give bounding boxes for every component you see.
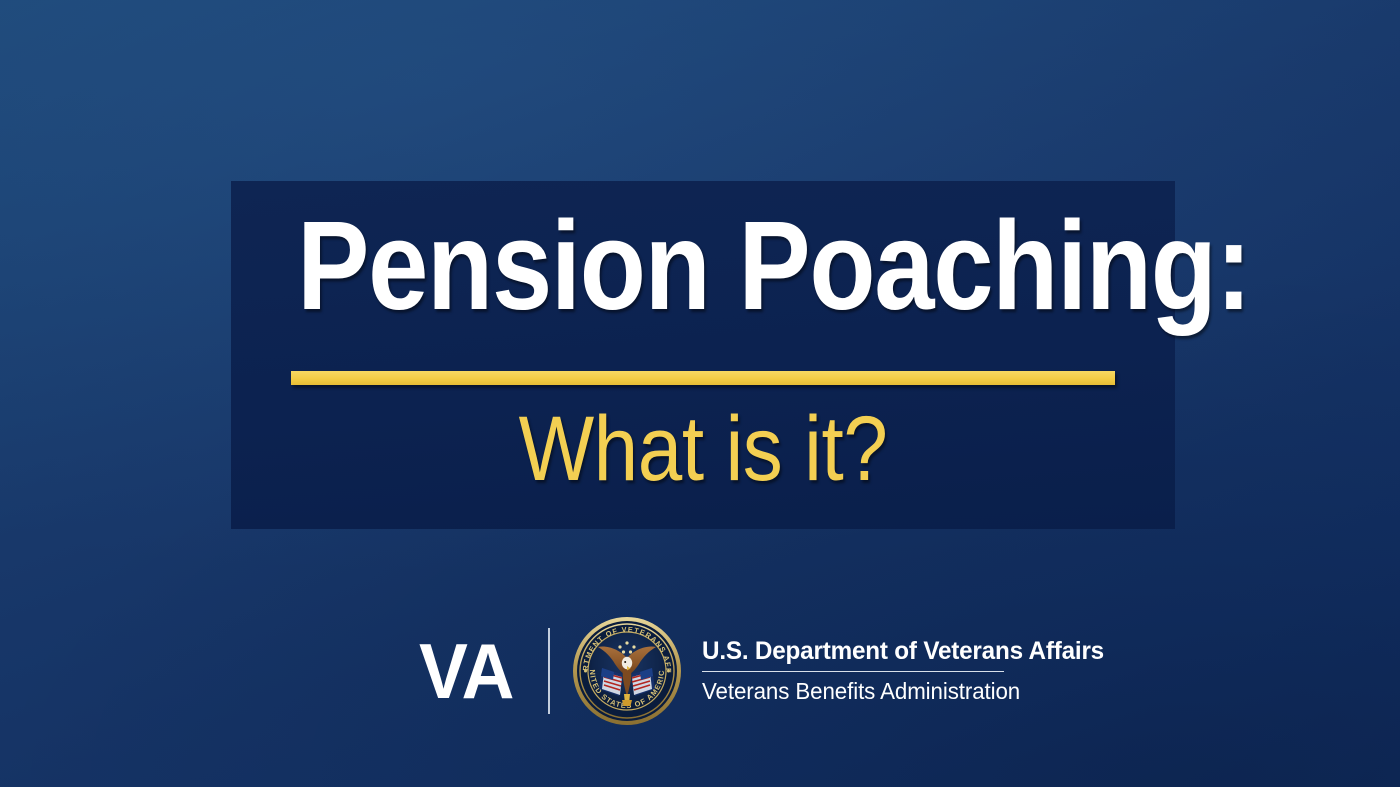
brand-divider bbox=[548, 628, 550, 714]
brand-underline bbox=[702, 671, 1004, 672]
page-subtitle: What is it? bbox=[292, 403, 1113, 495]
va-seal-icon: DEPARTMENT OF VETERANS AFFAIRS UNITED ST… bbox=[572, 616, 682, 726]
title-panel: Pension Poaching: What is it? bbox=[231, 181, 1175, 529]
va-branding-lockup: VA bbox=[419, 612, 1116, 730]
title-accent-rule bbox=[291, 371, 1115, 385]
brand-text-block: U.S. Department of Veterans Affairs Vete… bbox=[702, 637, 1116, 704]
department-name: U.S. Department of Veterans Affairs bbox=[702, 637, 1104, 666]
page-title: Pension Poaching: bbox=[297, 203, 1109, 329]
title-slide: Pension Poaching: What is it? VA bbox=[0, 0, 1400, 787]
administration-name: Veterans Benefits Administration bbox=[702, 678, 1104, 704]
va-wordmark: VA bbox=[419, 632, 514, 710]
